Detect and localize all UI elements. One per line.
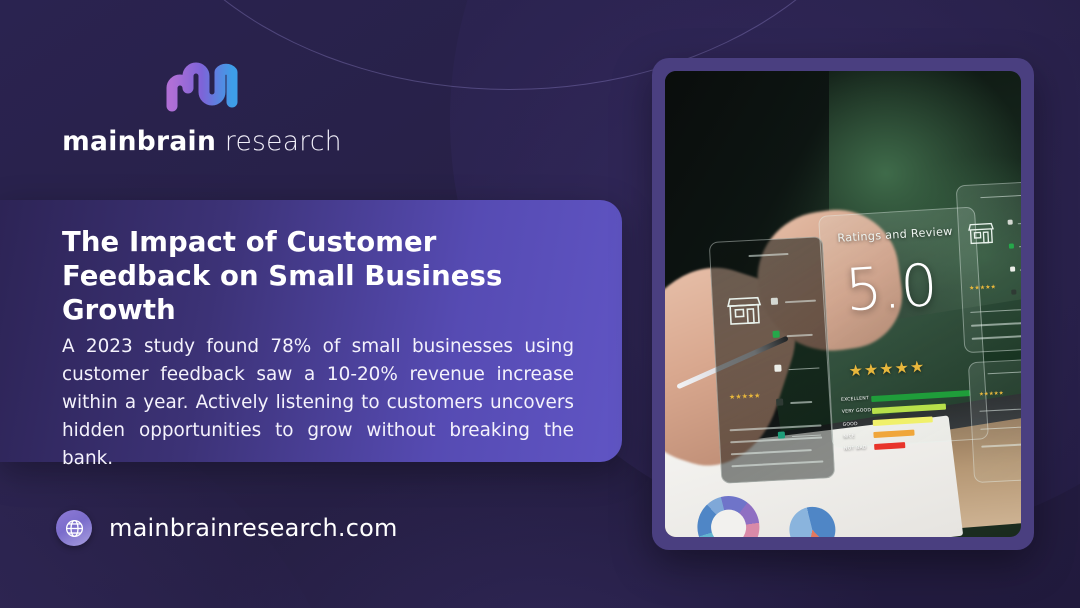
rating-bar-track <box>873 426 976 438</box>
ratings-stars: ★★★★★ <box>848 356 926 380</box>
rating-bar-label: EXCELLENT <box>841 396 871 403</box>
review-card-right: ★★★★★ <box>956 181 1021 353</box>
rating-bar-label: GOOD <box>843 420 873 427</box>
tablet-customer-review-photo: ★★★★★ Ratings and Review 5.0 <box>665 71 1021 537</box>
globe-icon <box>56 510 92 546</box>
rating-bar-fill <box>873 430 914 439</box>
rating-bar-fill <box>873 416 933 426</box>
review-card-right-stars: ★★★★★ <box>969 284 996 292</box>
review-card-right-lower-stars: ★★★★★ <box>979 390 1004 397</box>
review-card-left-stars: ★★★★★ <box>729 392 761 402</box>
brand-name-light: research <box>225 126 342 157</box>
brand-wordmark: mainbrain research <box>52 126 352 157</box>
rating-bar-label: NICE <box>843 433 873 440</box>
donut-chart <box>691 490 766 537</box>
review-card-right-lower: ★★★★★ <box>968 358 1021 483</box>
rating-bar-label: VERY GOOD <box>842 408 872 415</box>
rating-bar-fill <box>872 403 946 414</box>
website-url-text: mainbrainresearch.com <box>109 514 398 542</box>
brand-logo: mainbrain research <box>52 58 352 157</box>
poster-canvas: mainbrain research The Impact of Custome… <box>0 0 1080 608</box>
rating-bar-track <box>871 389 974 401</box>
body-paragraph: A 2023 study found 78% of small business… <box>62 333 574 473</box>
rating-bar-track <box>873 414 976 426</box>
rating-bar-fill <box>874 442 905 450</box>
ratings-bar-list: EXCELLENTVERY GOODGOODNICENOT BAD <box>841 388 977 457</box>
photo-frame: ★★★★★ Ratings and Review 5.0 <box>652 58 1034 550</box>
website-link[interactable]: mainbrainresearch.com <box>56 510 398 546</box>
storefront-icon <box>966 221 997 247</box>
content-card: The Impact of Customer Feedback on Small… <box>0 200 622 462</box>
ratings-panel-title: Ratings and Review <box>837 225 953 245</box>
ratings-score: 5.0 <box>844 256 940 320</box>
rating-bar-track <box>874 438 977 450</box>
rating-bar-fill <box>871 390 970 402</box>
brand-name-bold: mainbrain <box>62 126 216 157</box>
storefront-icon <box>724 293 766 327</box>
rating-bar-label: NOT BAD <box>844 445 874 452</box>
review-card-left: ★★★★★ <box>709 236 835 484</box>
wave-m-logo-icon <box>164 58 240 116</box>
page-title: The Impact of Customer Feedback on Small… <box>62 226 574 327</box>
rating-bar-track <box>872 401 975 413</box>
pie-chart <box>784 502 840 537</box>
